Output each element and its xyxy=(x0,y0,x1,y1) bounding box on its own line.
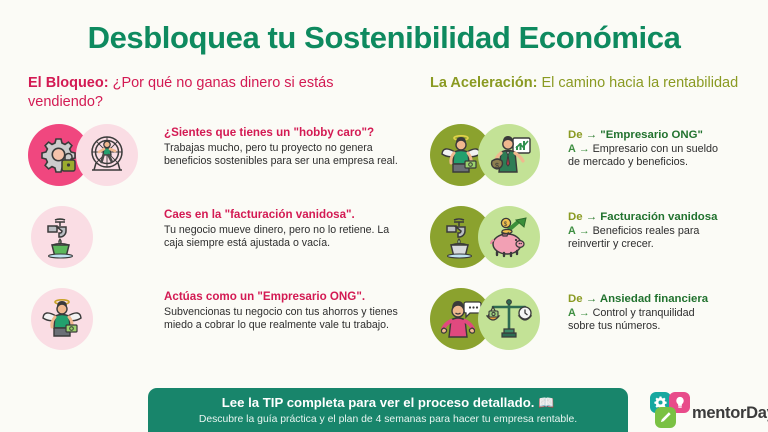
angel-entrepreneur-icon xyxy=(31,288,93,350)
left-item-1-text: ¿Sientes que tienes un "hobby caro"? Tra… xyxy=(164,126,402,167)
to-value-second: sobre tus números. xyxy=(568,320,768,333)
arrow-icon: → xyxy=(586,293,597,305)
right-column-header: La Aceleración: El camino hacia la renta… xyxy=(430,74,766,93)
item-title: Actúas como un "Empresario ONG". xyxy=(164,290,402,304)
to-key: A xyxy=(568,307,576,319)
businessman-growth-chart-icon: $ xyxy=(478,124,540,186)
svg-text:$: $ xyxy=(495,163,499,170)
item-body: Tu negocio mueve dinero, pero no lo reti… xyxy=(164,224,402,249)
from-value: Ansiedad financiera xyxy=(600,293,708,305)
item-to-line: A → Empresario con un sueldo xyxy=(568,143,768,156)
left-column-header: El Bloqueo: ¿Por qué no ganas dinero si … xyxy=(28,74,400,112)
logo-text: mentorDay xyxy=(692,404,768,423)
to-value: Beneficios reales para xyxy=(593,225,700,237)
item-from-line: De → "Empresario ONG" xyxy=(568,128,768,143)
item-title: Caes en la "facturación vanidosa". xyxy=(164,208,402,222)
left-items-list: ¿Sientes que tienes un "hobby caro"? Tra… xyxy=(28,124,400,366)
right-items-list: $ De → "Empresario ONG" A → Empresario c… xyxy=(430,124,768,366)
to-value: Empresario con un sueldo xyxy=(593,143,718,155)
item-to-line: A → Beneficios reales para xyxy=(568,225,768,238)
pencil-bubble-icon xyxy=(655,407,676,428)
from-value: Facturación vanidosa xyxy=(600,211,717,223)
right-heading-rest: El camino hacia la rentabilidad xyxy=(537,75,738,91)
left-item-2-text: Caes en la "facturación vanidosa". Tu ne… xyxy=(164,208,402,249)
list-item: ¿Sientes que tienes un "hobby caro"? Tra… xyxy=(28,124,400,202)
svg-text:$: $ xyxy=(504,221,508,228)
list-item: $ De → "Empresario ONG" A → Empresario c… xyxy=(430,124,768,202)
item-to-line: A → Control y tranquilidad xyxy=(568,307,768,320)
arrow-icon: → xyxy=(579,225,590,237)
arrow-icon: → xyxy=(579,307,590,319)
list-item: Actúas como un "Empresario ONG". Subvenc… xyxy=(28,288,400,366)
cta-subtitle: Descubre la guía práctica y el plan de 4… xyxy=(148,413,628,427)
to-key: A xyxy=(568,143,576,155)
left-item-3-text: Actúas como un "Empresario ONG". Subvenc… xyxy=(164,290,402,331)
infographic-page: Desbloquea tu Sostenibilidad Económica E… xyxy=(0,0,768,432)
right-item-2-text: De → Facturación vanidosa A → Beneficios… xyxy=(568,210,768,251)
arrow-icon: → xyxy=(586,211,597,223)
left-heading-lead: El Bloqueo: xyxy=(28,75,109,91)
to-value: Control y tranquilidad xyxy=(593,307,695,319)
right-item-3-text: De → Ansiedad financiera A → Control y t… xyxy=(568,292,768,333)
cta-banner[interactable]: Lee la TIP completa para ver el proceso … xyxy=(148,388,628,432)
right-heading-lead: La Aceleración: xyxy=(430,75,537,91)
right-item-1-text: De → "Empresario ONG" A → Empresario con… xyxy=(568,128,768,169)
cta-title-text: Lee la TIP completa para ver el proceso … xyxy=(222,395,535,410)
logo-bubbles xyxy=(648,392,694,430)
item-body: Trabajas mucho, pero tu proyecto no gene… xyxy=(164,142,402,167)
cta-title: Lee la TIP completa para ver el proceso … xyxy=(148,395,628,411)
arrow-icon: → xyxy=(586,129,597,141)
book-icon: 📖 xyxy=(538,395,554,410)
to-value-second: reinvertir y crecer. xyxy=(568,238,768,251)
leaky-faucet-bucket-icon: $ xyxy=(31,206,93,268)
item-body: Subvencionas tu negocio con tus ahorros … xyxy=(164,306,402,331)
scales-money-time-icon xyxy=(478,288,540,350)
list-item: $ Caes en la "facturación vanidosa". Tu … xyxy=(28,206,400,284)
from-value: "Empresario ONG" xyxy=(600,129,703,141)
from-key: De xyxy=(568,211,583,223)
left-heading: El Bloqueo: ¿Por qué no ganas dinero si … xyxy=(28,74,400,112)
item-title: ¿Sientes que tienes un "hobby caro"? xyxy=(164,126,402,140)
arrow-icon: → xyxy=(579,143,590,155)
from-key: De xyxy=(568,293,583,305)
from-key: De xyxy=(568,129,583,141)
page-title: Desbloquea tu Sostenibilidad Económica xyxy=(0,20,768,56)
hamster-wheel-runner-icon xyxy=(76,124,138,186)
to-key: A xyxy=(568,225,576,237)
mentorday-logo[interactable]: mentorDay xyxy=(648,392,766,430)
right-heading: La Aceleración: El camino hacia la renta… xyxy=(430,74,766,93)
list-item: $ De → Fac xyxy=(430,206,768,284)
item-from-line: De → Ansiedad financiera xyxy=(568,292,768,307)
to-value-second: de mercado y beneficios. xyxy=(568,156,768,169)
list-item: De → Ansiedad financiera A → Control y t… xyxy=(430,288,768,366)
item-from-line: De → Facturación vanidosa xyxy=(568,210,768,225)
piggy-bank-growth-icon: $ xyxy=(478,206,540,268)
